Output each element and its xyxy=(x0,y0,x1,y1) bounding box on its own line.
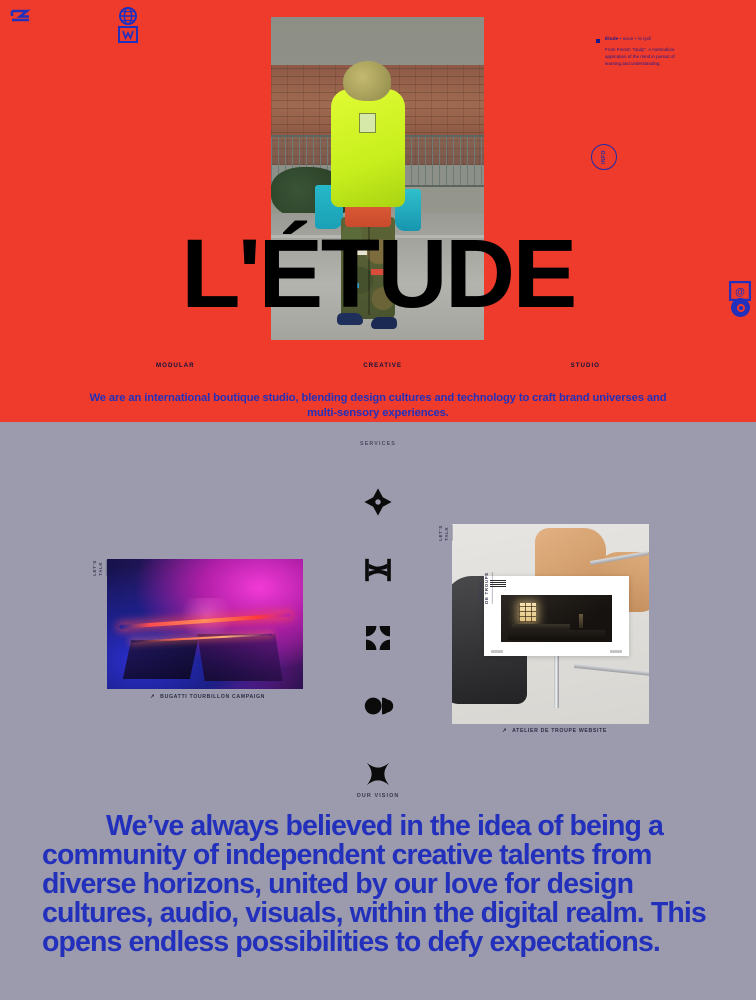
info-badge-label: INFO xyxy=(601,150,607,164)
definition-sep-2: • xyxy=(635,36,637,41)
record-ring xyxy=(737,304,745,312)
project-card-atelier[interactable] xyxy=(452,524,649,724)
mockup-footer-left xyxy=(491,650,503,653)
project-card-bugatti[interactable] xyxy=(107,559,303,689)
photo-jacket-patch xyxy=(359,113,376,133)
meta-tag-creative: CREATIVE xyxy=(363,362,402,369)
photo-shoe-left xyxy=(337,313,363,325)
definition-term: Étude xyxy=(605,36,618,41)
globe-w-svg xyxy=(114,6,142,44)
mockup-plinth xyxy=(508,630,605,640)
closing-statement: We’ve always believed in the idea of bei… xyxy=(42,812,714,957)
bugatti-slab-left xyxy=(122,640,197,679)
photo-sticker-2 xyxy=(371,269,385,275)
arrow-up-right-icon: ↗ xyxy=(502,728,507,734)
landing-page: Étude • noun • /e.tyd/ From French "stud… xyxy=(0,0,756,1000)
mockup-bench xyxy=(512,624,570,630)
svg-text:@: @ xyxy=(735,287,745,298)
concave-diamond-icon[interactable] xyxy=(362,758,394,790)
atelier-website-mockup xyxy=(484,576,630,656)
hourglass-link-icon[interactable] xyxy=(362,554,394,586)
hero-meta-row: MODULAR CREATIVE STUDIO xyxy=(0,362,756,369)
circle-half-icon[interactable] xyxy=(362,690,394,722)
photo-hood xyxy=(343,61,391,101)
project-caption-atelier[interactable]: ↗ ATELIER DE TROUPE WEBSITE xyxy=(502,728,607,734)
meta-tag-modular: MODULAR xyxy=(156,362,195,369)
definition-pronunciation: /e.tyd/ xyxy=(638,36,651,41)
hero-section: Étude • noun • /e.tyd/ From French "stud… xyxy=(0,0,756,422)
definition-text: From French "study". A methodical applic… xyxy=(605,46,687,67)
definition-term-line: Étude • noun • /e.tyd/ xyxy=(605,36,687,43)
side-tag-left[interactable]: LET'S TALK xyxy=(92,560,107,576)
mockup-window xyxy=(519,603,537,622)
monogram-svg xyxy=(9,9,31,25)
definition-sep-1: • xyxy=(620,36,622,41)
atelier-mockup-hero-image xyxy=(501,595,612,641)
services-icon-column xyxy=(353,486,403,790)
record-circle-icon[interactable] xyxy=(731,298,750,317)
etude-definition: Étude • noun • /e.tyd/ From French "stud… xyxy=(596,36,704,67)
bugatti-slab-right xyxy=(197,634,283,681)
side-tag-right[interactable]: LET'S TALK xyxy=(438,525,453,541)
photo-shoe-right xyxy=(371,317,397,329)
bullet-marker xyxy=(596,39,600,43)
side-tag-atelier-inner: ATELIER DE TROUPE xyxy=(478,572,493,604)
project-caption-label: ATELIER DE TROUPE WEBSITE xyxy=(512,728,607,734)
meta-tag-studio: STUDIO xyxy=(571,362,600,369)
our-vision-label: OUR VISION xyxy=(0,793,756,799)
services-label: SERVICES xyxy=(0,441,756,447)
photo-sticker-3 xyxy=(349,283,359,288)
project-caption-bugatti[interactable]: ↗ BUGATTI TOURBILLON CAMPAIGN xyxy=(150,694,265,700)
definition-body: Étude • noun • /e.tyd/ From French "stud… xyxy=(605,36,687,67)
hero-intro-paragraph: We are an international boutique studio,… xyxy=(78,391,678,421)
hero-photo xyxy=(271,17,484,340)
photo-neon-jacket xyxy=(331,89,405,207)
photo-sticker-1 xyxy=(355,249,367,255)
four-point-burst-icon[interactable] xyxy=(362,486,394,518)
pinwheel-star-icon[interactable] xyxy=(362,622,394,654)
mockup-footer-right xyxy=(610,650,622,653)
arrow-up-right-icon: ↗ xyxy=(150,694,155,700)
photo-camo-pants xyxy=(341,217,395,319)
info-badge-button[interactable]: INFO xyxy=(591,144,617,170)
letude-monogram-icon[interactable] xyxy=(9,9,31,25)
mockup-vase xyxy=(579,614,583,628)
definition-pos: noun xyxy=(623,36,634,41)
project-caption-label: BUGATTI TOURBILLON CAMPAIGN xyxy=(160,694,265,700)
globe-icon[interactable] xyxy=(114,6,142,44)
